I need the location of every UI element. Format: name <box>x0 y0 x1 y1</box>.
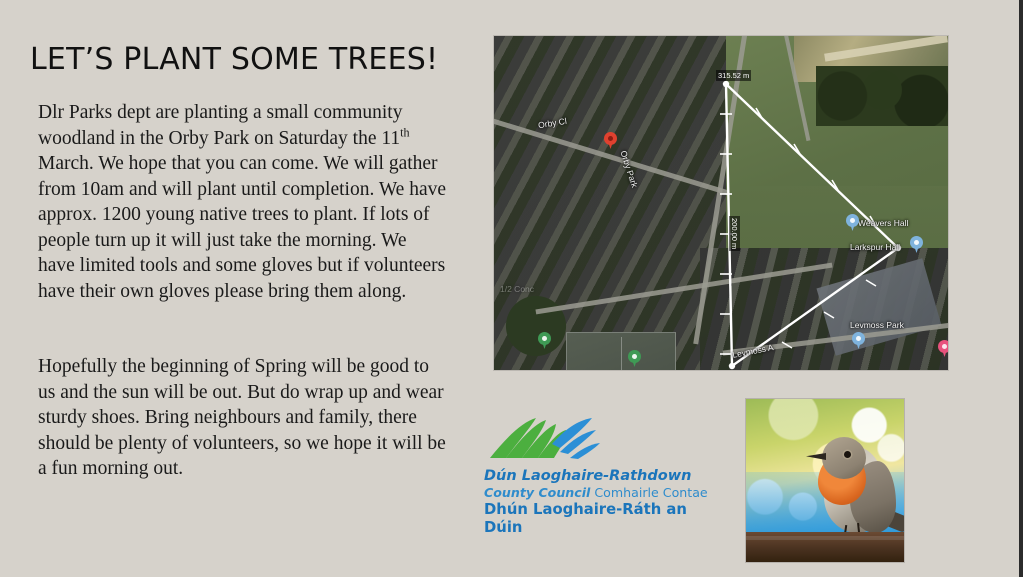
map-label-levmoss-park: Levmoss Park <box>850 320 904 330</box>
paragraph-1-part-a: Dlr Parks dept are planting a small comm… <box>38 102 402 149</box>
larkspur-hall-pin[interactable] <box>910 236 923 254</box>
map-label-faint: 1/2 Conc <box>500 284 534 294</box>
map-label-weavers-hall: Weavers Hall <box>858 218 908 228</box>
council-logo-text: Dún Laoghaire-Rathdown County Council Co… <box>484 468 716 537</box>
measurement-label-top: 315.52 m <box>716 70 751 81</box>
logo-line-1: Dún Laoghaire-Rathdown <box>484 468 716 485</box>
logo-line-3: Dhún Laoghaire-Ráth an Dúin <box>484 501 716 537</box>
pin-dot <box>856 336 861 341</box>
page-title: LET’S PLANT SOME TREES! <box>30 42 460 77</box>
logo-line-2-italic: County Council <box>484 485 590 500</box>
park-amenity-pin-2[interactable] <box>628 350 641 368</box>
robin-photo <box>746 399 904 562</box>
logo-line-2-regular: Comhairle Contae <box>590 485 707 500</box>
paragraph-2: Hopefully the beginning of Spring will b… <box>38 354 448 482</box>
council-logo: Dún Laoghaire-Rathdown County Council Co… <box>484 414 716 537</box>
aerial-map-image[interactable]: 315.52 m 200.00 m Orby Cl Orby Park Weav… <box>494 36 948 370</box>
edge-poi-pin[interactable] <box>938 340 948 358</box>
ordinal-suffix: th <box>400 125 409 139</box>
weavers-hall-pin[interactable] <box>846 214 859 232</box>
pin-dot <box>608 136 613 141</box>
pin-dot <box>632 354 637 359</box>
map-wooded-area <box>498 294 574 358</box>
pin-dot <box>942 344 947 349</box>
orby-park-location-pin[interactable] <box>604 132 617 150</box>
paragraph-1: Dlr Parks dept are planting a small comm… <box>38 100 448 304</box>
robin-eye <box>844 451 851 458</box>
pin-dot <box>914 240 919 245</box>
measurement-label-side: 200.00 m <box>729 216 740 251</box>
map-treeline <box>816 66 948 126</box>
presentation-slide: LET’S PLANT SOME TREES! Dlr Parks dept a… <box>0 0 1023 577</box>
paragraph-1-part-b: March. We hope that you can come. We wil… <box>38 153 446 302</box>
levmoss-park-pin[interactable] <box>852 332 865 350</box>
map-tennis-courts <box>566 332 676 370</box>
logo-line-2: County Council Comhairle Contae <box>484 485 716 501</box>
pin-dot <box>542 336 547 341</box>
dlr-logo-mark-icon <box>484 414 610 464</box>
pin-dot <box>850 218 855 223</box>
photo-branch <box>746 532 904 562</box>
map-label-larkspur-hall: Larkspur Hall <box>850 242 900 252</box>
park-amenity-pin-1[interactable] <box>538 332 551 350</box>
robin-head <box>822 437 866 479</box>
body-text-column: Dlr Parks dept are planting a small comm… <box>38 100 448 482</box>
